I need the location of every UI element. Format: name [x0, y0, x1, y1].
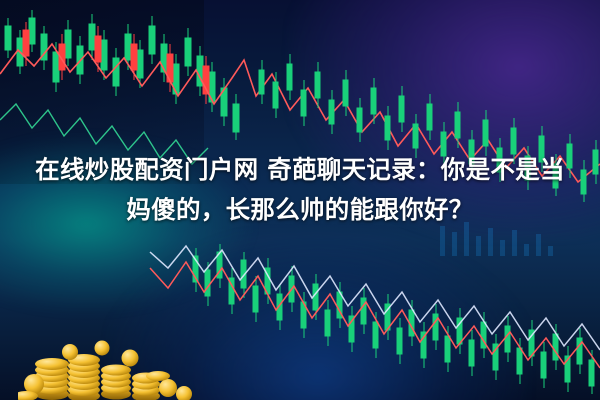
headline-line-1: 在线炒股配资门户网 奇葩聊天记录：你是不是当: [0, 150, 600, 190]
banner-image: 在线炒股配资门户网 奇葩聊天记录：你是不是当 妈傻的，长那么帅的能跟你好？: [0, 0, 600, 400]
candles-lower: [193, 244, 594, 394]
gold-coins-stack: [18, 324, 208, 400]
headline-text: 在线炒股配资门户网 奇葩聊天记录：你是不是当 妈傻的，长那么帅的能跟你好？: [0, 150, 600, 230]
candles-upper-left: [5, 10, 239, 140]
headline-line-2: 妈傻的，长那么帅的能跟你好？: [0, 190, 600, 230]
